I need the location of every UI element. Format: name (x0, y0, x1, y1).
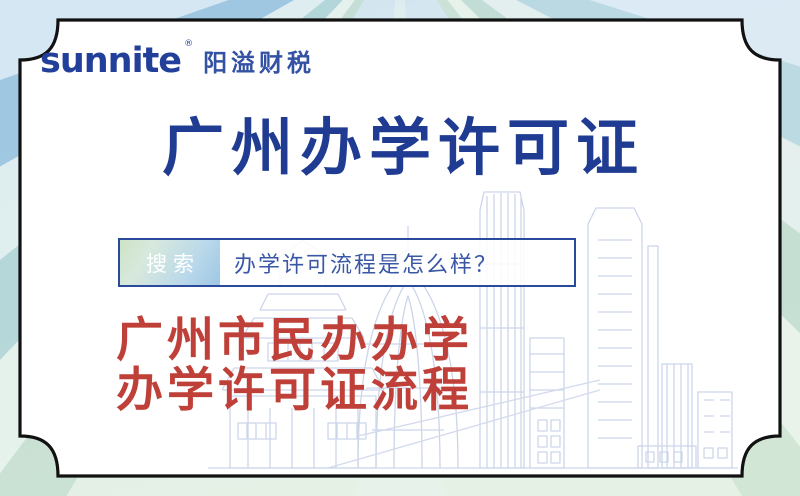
sunnite-logo: sunnite ® (40, 44, 181, 79)
page-title: 广州办学许可证 (18, 118, 782, 180)
company-name-cn: 阳溢财税 (203, 49, 315, 79)
headline-line-1: 广州市民办办学 (116, 315, 473, 365)
registered-trademark-icon: ® (184, 40, 192, 49)
poster-canvas: sunnite ® 阳溢财税 广州办学许可证 搜索 办学许可流程是怎么样？ 广州… (0, 0, 800, 496)
content-card: sunnite ® 阳溢财税 广州办学许可证 搜索 办学许可流程是怎么样？ 广州… (18, 18, 782, 478)
headline-block: 广州市民办办学 办学许可证流程 (116, 315, 473, 415)
brand-header: sunnite ® 阳溢财税 (40, 44, 315, 79)
search-input[interactable]: 办学许可流程是怎么样？ (220, 240, 574, 285)
logo-wordmark: sunnite (40, 41, 181, 81)
search-bar[interactable]: 搜索 办学许可流程是怎么样？ (118, 238, 576, 287)
headline-line-2: 办学许可证流程 (116, 365, 473, 415)
search-button[interactable]: 搜索 (120, 240, 220, 285)
